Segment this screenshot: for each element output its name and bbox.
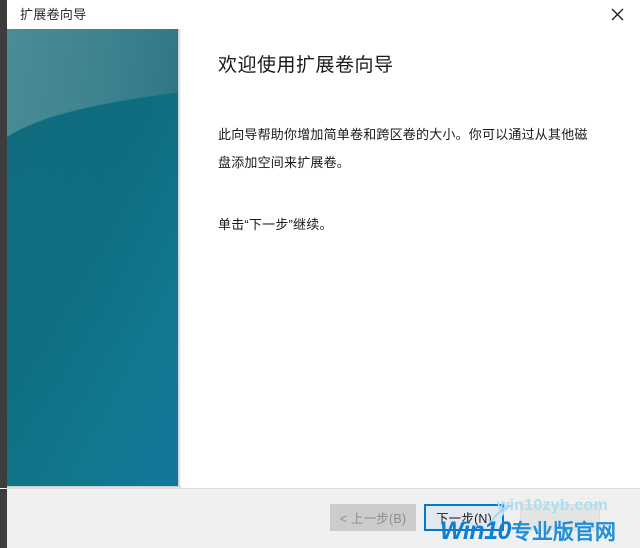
window-left-edge xyxy=(0,0,7,29)
page-title: 欢迎使用扩展卷向导 xyxy=(218,50,394,77)
description-paragraph-2: 单击“下一步”继续。 xyxy=(218,211,598,239)
wizard-banner-image xyxy=(7,29,178,486)
close-icon xyxy=(611,8,624,21)
description-paragraph-1: 此向导帮助你增加简单卷和跨区卷的大小。你可以通过从其他磁盘添加空间来扩展卷。 xyxy=(218,121,598,177)
wizard-content-pane: 欢迎使用扩展卷向导 此向导帮助你增加简单卷和跨区卷的大小。你可以通过从其他磁盘添… xyxy=(181,29,640,488)
extend-volume-wizard-dialog: 扩展卷向导 xyxy=(0,0,640,548)
next-button[interactable]: 下一步(N) xyxy=(424,504,504,531)
banner-artwork xyxy=(7,29,178,486)
footer-left-edge xyxy=(0,489,7,548)
cancel-button[interactable] xyxy=(520,504,600,531)
window-left-rail xyxy=(0,29,7,488)
back-button[interactable]: < 上一步(B) xyxy=(330,504,416,531)
dialog-footer: < 上一步(B) 下一步(N) xyxy=(0,489,640,548)
window-title: 扩展卷向导 xyxy=(20,7,87,23)
close-button[interactable] xyxy=(594,0,640,29)
title-bar: 扩展卷向导 xyxy=(0,0,640,29)
